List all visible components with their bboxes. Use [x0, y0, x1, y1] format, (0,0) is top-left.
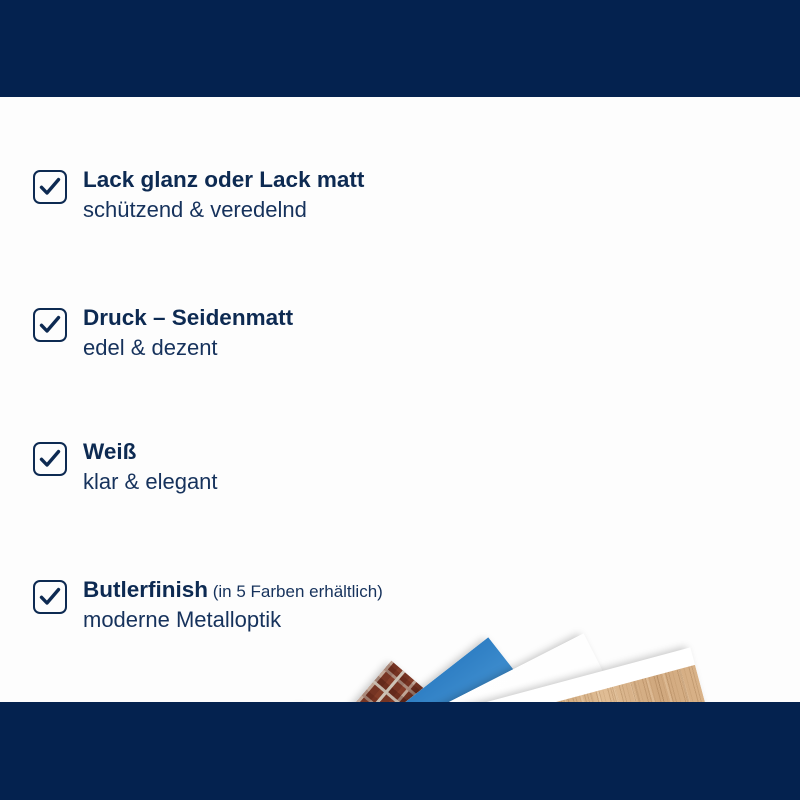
checkbox-checked-icon — [33, 308, 67, 342]
checklist-item-subtitle: edel & dezent — [83, 335, 293, 360]
checklist-item-text: Butlerfinish (in 5 Farben erhältlich) mo… — [83, 577, 383, 632]
checklist-item-title-main: Weiß — [83, 439, 136, 464]
checklist-item-druck[interactable]: Druck – Seidenmatt edel & dezent — [33, 305, 293, 360]
header-bar — [0, 0, 800, 97]
checklist-item-title-main: Lack glanz oder Lack matt — [83, 167, 364, 192]
checklist-item-text: Druck – Seidenmatt edel & dezent — [83, 305, 293, 360]
material-sample-fan: Seidenmatt Lack glanz Lack matt Weiß But… — [0, 0, 800, 800]
checkbox-checked-icon — [33, 580, 67, 614]
checklist-item-title: Lack glanz oder Lack matt — [83, 167, 364, 192]
checklist-item-note: (in 5 Farben erhältlich) — [208, 582, 383, 601]
checklist-item-title-main: Butlerfinish — [83, 577, 208, 602]
checklist-item-title-main: Druck – Seidenmatt — [83, 305, 293, 330]
poster-canvas: Seidenmatt Lack glanz Lack matt Weiß But… — [0, 0, 800, 800]
checklist-item-title: Druck – Seidenmatt — [83, 305, 293, 330]
checklist-item-text: Weiß klar & elegant — [83, 439, 218, 494]
checklist-item-text: Lack glanz oder Lack matt schützend & ve… — [83, 167, 364, 222]
checklist-item-butlerfinish[interactable]: Butlerfinish (in 5 Farben erhältlich) mo… — [33, 577, 383, 632]
footer-bar — [0, 702, 800, 800]
checkbox-checked-icon — [33, 442, 67, 476]
checklist-item-subtitle: moderne Metalloptik — [83, 607, 383, 632]
checklist-item-lack[interactable]: Lack glanz oder Lack matt schützend & ve… — [33, 167, 364, 222]
checklist-item-title: Butlerfinish (in 5 Farben erhältlich) — [83, 577, 383, 602]
checklist-item-weiss[interactable]: Weiß klar & elegant — [33, 439, 218, 494]
checkbox-checked-icon — [33, 170, 67, 204]
checklist-item-subtitle: klar & elegant — [83, 469, 218, 494]
checklist-item-subtitle: schützend & veredelnd — [83, 197, 364, 222]
checklist-item-title: Weiß — [83, 439, 136, 464]
